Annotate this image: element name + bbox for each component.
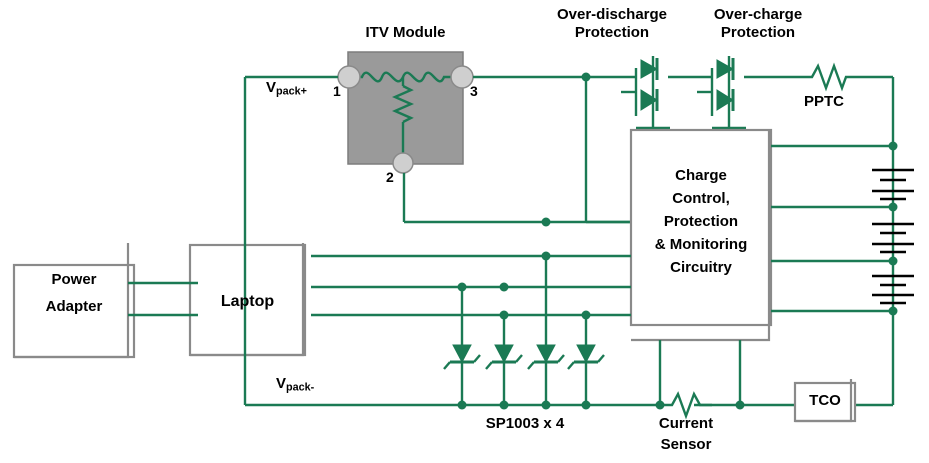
vpack-plus-sub: pack+	[276, 86, 307, 98]
adapter-to-laptop-wires	[128, 283, 198, 315]
power-adapter-label-line1: Power	[14, 272, 134, 289]
over-discharge-protection-symbol	[621, 52, 670, 136]
over-charge-label-line1: Over-charge	[688, 7, 828, 24]
itv-pin-3-label: 3	[470, 84, 478, 100]
charge-control-line2: Control,	[631, 191, 771, 208]
itv-pin-1-label: 1	[333, 84, 341, 100]
pptc-label: PPTC	[804, 94, 844, 111]
vpack-minus-label: Vpack-	[276, 376, 314, 394]
itv-module-block	[338, 52, 473, 173]
itv-pin-2-label: 2	[386, 170, 394, 186]
over-discharge-label-line2: Protection	[532, 25, 692, 42]
charge-control-line4: & Monitoring	[631, 237, 771, 254]
sp1003-label: SP1003 x 4	[450, 416, 600, 433]
charge-control-block	[631, 130, 771, 340]
sp1003-diode-array	[444, 345, 604, 405]
vpack-plus-main: V	[266, 79, 276, 96]
charge-control-line1: Charge	[631, 168, 771, 185]
vpack-minus-sub: pack-	[286, 382, 314, 394]
power-adapter-label-line2: Adapter	[14, 299, 134, 316]
laptop-label: Laptop	[190, 293, 305, 311]
diagram-canvas: .w{stroke:#1b7a54;stroke-width:2.4;fill:…	[0, 0, 929, 463]
over-charge-protection-symbol	[697, 56, 746, 136]
charge-control-line3: Protection	[631, 214, 771, 231]
vpack-plus-label: Vpack+	[266, 80, 307, 98]
vpack-minus-main: V	[276, 375, 286, 392]
current-sensor-line1: Current	[626, 416, 746, 433]
vpack-plus-rail	[245, 73, 893, 406]
over-charge-label-line2: Protection	[688, 25, 828, 42]
laptop-bus-wires	[311, 252, 631, 346]
over-discharge-label-line1: Over-discharge	[532, 7, 692, 24]
tco-label: TCO	[795, 393, 855, 410]
itv-module-label: ITV Module	[348, 25, 463, 42]
current-sensor-line2: Sensor	[626, 437, 746, 454]
pptc-resistor	[806, 66, 850, 88]
diagram-svg: .w{stroke:#1b7a54;stroke-width:2.4;fill:…	[0, 0, 929, 463]
charge-control-line5: Circuitry	[631, 260, 771, 277]
